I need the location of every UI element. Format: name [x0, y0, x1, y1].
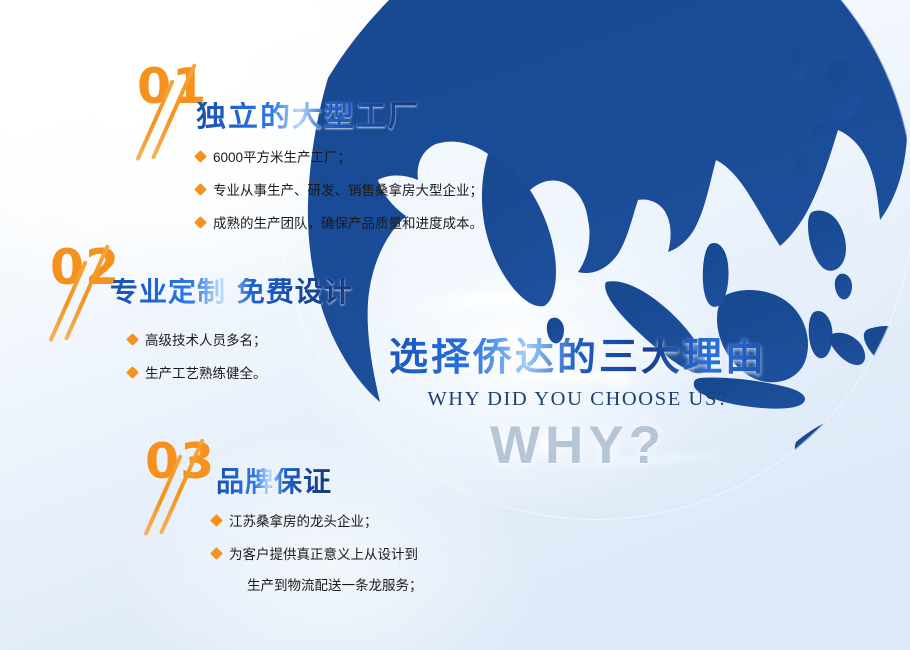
highlight-speck	[600, 360, 634, 394]
diamond-bullet-icon	[126, 366, 139, 379]
list-item: 生产工艺熟练健全。	[128, 365, 267, 383]
list-item: 6000平方米生产工厂；	[196, 149, 483, 167]
world-globe-graphic	[276, 0, 910, 522]
diamond-bullet-icon	[194, 217, 207, 230]
section-bullets-03: 江苏桑拿房的龙头企业； 为客户提供真正意义上从设计到 生产到物流配送一条龙服务；	[212, 513, 423, 596]
hero-title-group: 选择侨达的三大理由 WHY DID YOU CHOOSE US? WHY?	[358, 338, 798, 476]
light-flare-middle	[427, 321, 693, 429]
watermark-text: WHY?	[358, 415, 798, 476]
section-number-03: 03	[145, 437, 215, 486]
list-item: 为客户提供真正意义上从设计到 生产到物流配送一条龙服务；	[212, 546, 423, 595]
highlight-speck	[452, 348, 478, 374]
section-bullets-02: 高级技术人员多名； 生产工艺熟练健全。	[128, 332, 267, 383]
diamond-bullet-icon	[210, 514, 223, 527]
highlight-speck	[530, 430, 560, 460]
list-item: 高级技术人员多名；	[128, 332, 267, 350]
diamond-bullet-icon	[194, 150, 207, 163]
diamond-bullet-icon	[210, 547, 223, 560]
section-heading-02: 专业定制 免费设计	[110, 278, 353, 306]
list-item: 江苏桑拿房的龙头企业；	[212, 513, 423, 531]
diamond-bullet-icon	[126, 333, 139, 346]
diamond-bullet-icon	[194, 183, 207, 196]
section-bullets-01: 6000平方米生产工厂； 专业从事生产、研发、销售桑拿房大型企业； 成熟的生产团…	[196, 149, 483, 234]
page-subtitle: WHY DID YOU CHOOSE US?	[358, 388, 798, 411]
light-flare-upper	[345, 223, 656, 374]
promo-banner: 01 独立的大型工厂 6000平方米生产工厂； 专业从事生产、研发、销售桑拿房大…	[0, 0, 910, 650]
list-item: 成熟的生产团队，确保产品质量和进度成本。	[196, 215, 483, 233]
light-flare-lower	[518, 414, 772, 507]
section-heading-01: 独立的大型工厂	[196, 102, 420, 132]
section-heading-03: 品牌保证	[216, 468, 332, 496]
list-item: 专业从事生产、研发、销售桑拿房大型企业；	[196, 182, 483, 200]
page-title: 选择侨达的三大理由	[358, 338, 798, 379]
